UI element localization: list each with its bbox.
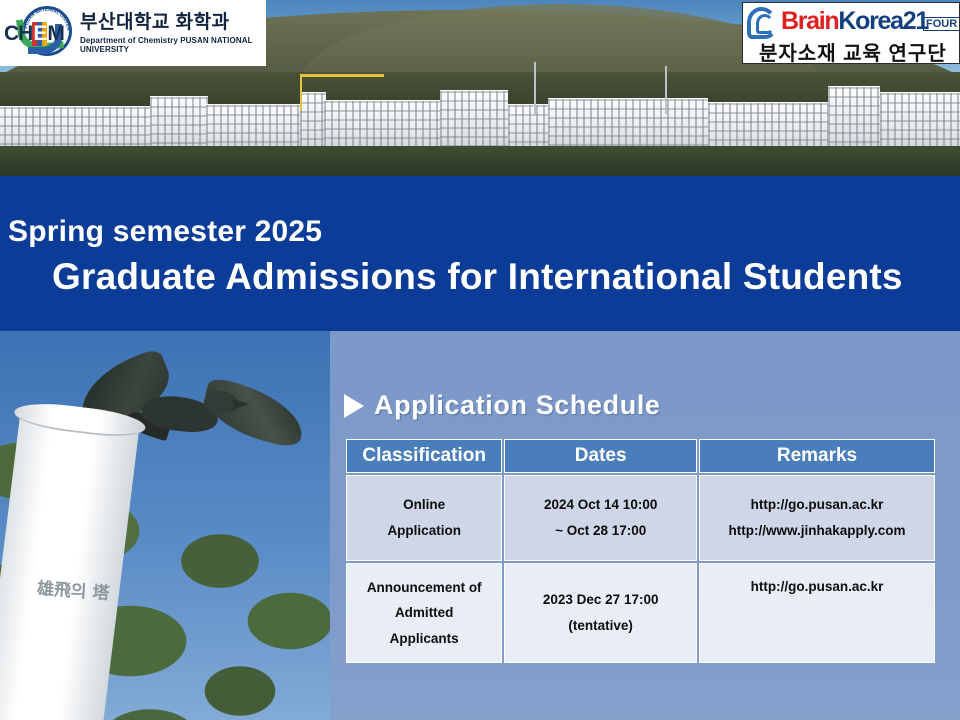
table-row: Online Application 2024 Oct 14 10:00 ~ O… — [346, 475, 935, 561]
campus-building — [206, 104, 302, 150]
application-schedule-table: Classification Dates Remarks Online Appl… — [344, 437, 937, 665]
construction-crane-jib — [300, 74, 384, 77]
column-header-remarks: Remarks — [699, 439, 935, 473]
remarks-url[interactable]: http://go.pusan.ac.kr — [704, 574, 930, 600]
pine-trees-right — [180, 531, 330, 720]
university-name-korean: 부산대학교 화학과 — [80, 12, 266, 34]
eagle-beak — [233, 399, 249, 410]
korea-word: Korea — [838, 7, 902, 35]
triangle-right-icon — [344, 394, 364, 418]
date-line: 2024 Oct 14 10:00 — [509, 492, 692, 518]
campus-building — [300, 92, 326, 150]
date-line: (tentative) — [509, 613, 692, 639]
date-line: 2023 Dec 27 17:00 — [509, 587, 692, 613]
monument-photo: 雄飛의 塔 — [0, 331, 330, 720]
classification-line: Admitted — [351, 600, 497, 626]
section-heading-label: Application Schedule — [374, 390, 661, 421]
remarks-url[interactable]: http://go.pusan.ac.kr — [704, 492, 930, 518]
classification-line: Application — [351, 518, 497, 544]
date-line: ~ Oct 28 17:00 — [509, 518, 692, 544]
classification-line: Online — [351, 492, 497, 518]
cell-classification: Online Application — [346, 475, 502, 561]
light-pole — [534, 62, 536, 114]
brainkorea-subtitle: 분자소재 교육 연구단 — [759, 37, 947, 64]
application-schedule-heading: Application Schedule — [344, 390, 661, 421]
column-header-dates: Dates — [504, 439, 697, 473]
foreground-trees — [0, 146, 960, 176]
pnu-emblem-icon: PUSAN NATIONAL UNIVERSITY CHEM — [4, 4, 74, 62]
campus-building — [324, 100, 440, 150]
classification-line: Applicants — [351, 626, 497, 652]
brainkorea-wordmark: BrainKorea21 — [781, 9, 928, 34]
brainkorea21-logo: BrainKorea21 FOUR 분자소재 교육 연구단 — [742, 2, 960, 64]
cell-remarks: http://go.pusan.ac.kr http://www.jinhaka… — [699, 475, 935, 561]
university-name-english: Department of Chemistry PUSAN NATIONAL U… — [80, 36, 266, 54]
head-profile-icon — [747, 7, 781, 41]
table-header-row: Classification Dates Remarks — [346, 439, 935, 473]
cell-dates: 2023 Dec 27 17:00 (tentative) — [504, 563, 697, 663]
campus-building — [0, 106, 150, 150]
brain-word: Brain — [781, 7, 838, 35]
cell-classification: Announcement of Admitted Applicants — [346, 563, 502, 663]
light-pole — [665, 66, 667, 114]
title-banner: Spring semester 2025 Graduate Admissions… — [0, 176, 960, 331]
pnu-chemistry-logo: PUSAN NATIONAL UNIVERSITY CHEM 부산대학교 화학과… — [0, 0, 266, 66]
four-badge: FOUR — [923, 17, 960, 31]
campus-building — [828, 86, 880, 150]
chem-wordmark: CHEM — [4, 22, 64, 46]
banner-main-title: Graduate Admissions for International St… — [52, 256, 903, 298]
eagle-right-wing — [197, 376, 310, 451]
cell-remarks: http://go.pusan.ac.kr — [699, 563, 935, 663]
table-row: Announcement of Admitted Applicants 2023… — [346, 563, 935, 663]
campus-building — [548, 98, 708, 150]
remarks-url[interactable]: http://www.jinhakapply.com — [704, 518, 930, 544]
column-engraving: 雄飛의 塔 — [36, 577, 110, 607]
campus-building — [150, 96, 208, 150]
cell-dates: 2024 Oct 14 10:00 ~ Oct 28 17:00 — [504, 475, 697, 561]
column-header-classification: Classification — [346, 439, 502, 473]
campus-building — [508, 104, 548, 150]
campus-building — [880, 92, 960, 150]
admissions-poster: PUSAN NATIONAL UNIVERSITY CHEM 부산대학교 화학과… — [0, 0, 960, 720]
campus-building — [708, 102, 828, 150]
classification-line: Announcement of — [351, 575, 497, 601]
campus-building — [440, 90, 508, 150]
construction-crane-mast — [300, 74, 302, 110]
banner-semester-line: Spring semester 2025 — [8, 215, 322, 249]
